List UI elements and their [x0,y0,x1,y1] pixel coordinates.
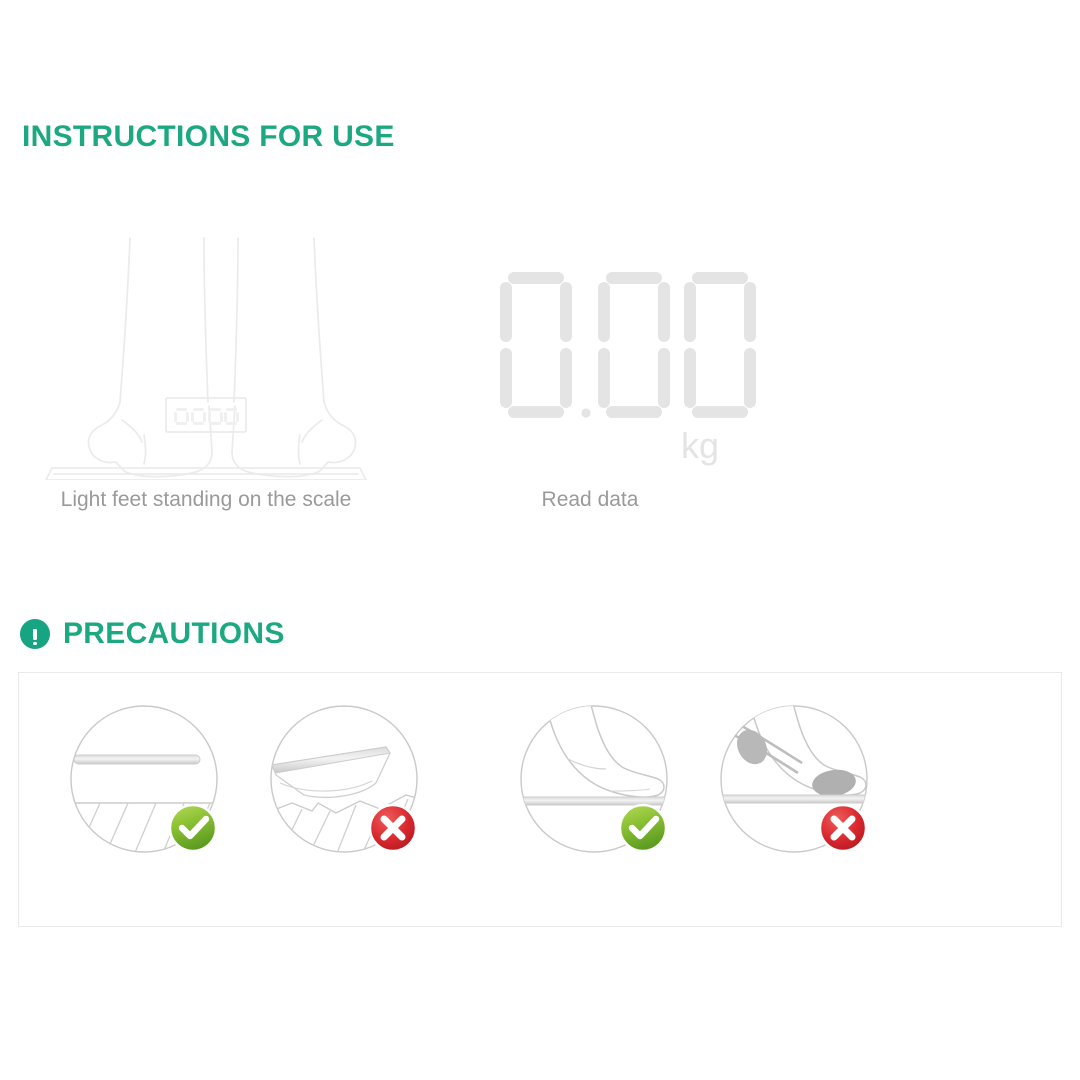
scale-display-digits [174,408,239,425]
instruction-step-2: kg Read data [400,230,780,540]
precaution-item-2 [256,691,456,891]
bare-foot-on-scale-icon [506,691,706,891]
page-title: INSTRUCTIONS FOR USE [22,120,395,154]
cross-badge [370,805,416,851]
check-badge [620,805,666,851]
precautions-header: PRECAUTIONS [20,617,285,651]
precaution-item-1 [56,691,256,891]
sock-foot-on-scale-icon [706,691,906,891]
precaution-item-3 [506,691,706,891]
instruction-step-1-caption: Light feet standing on the scale [16,488,396,512]
scale-on-hard-floor-icon [56,691,256,891]
cross-badge [820,805,866,851]
instruction-step-2-caption: Read data [400,488,780,512]
exclamation-circle-icon [20,619,50,649]
precautions-panel [18,672,1062,927]
svg-text:kg: kg [681,425,719,466]
check-badge [170,805,216,851]
precautions-items [19,673,1063,928]
lcd-display-icon: kg [400,230,780,480]
precautions-title: PRECAUTIONS [63,617,285,651]
scale-on-carpet-icon [256,691,456,891]
feet-on-scale-icon [16,230,396,480]
precaution-item-4 [706,691,906,891]
instruction-step-1: Light feet standing on the scale [16,230,396,540]
instruction-steps: Light feet standing on the scale [0,230,1080,540]
